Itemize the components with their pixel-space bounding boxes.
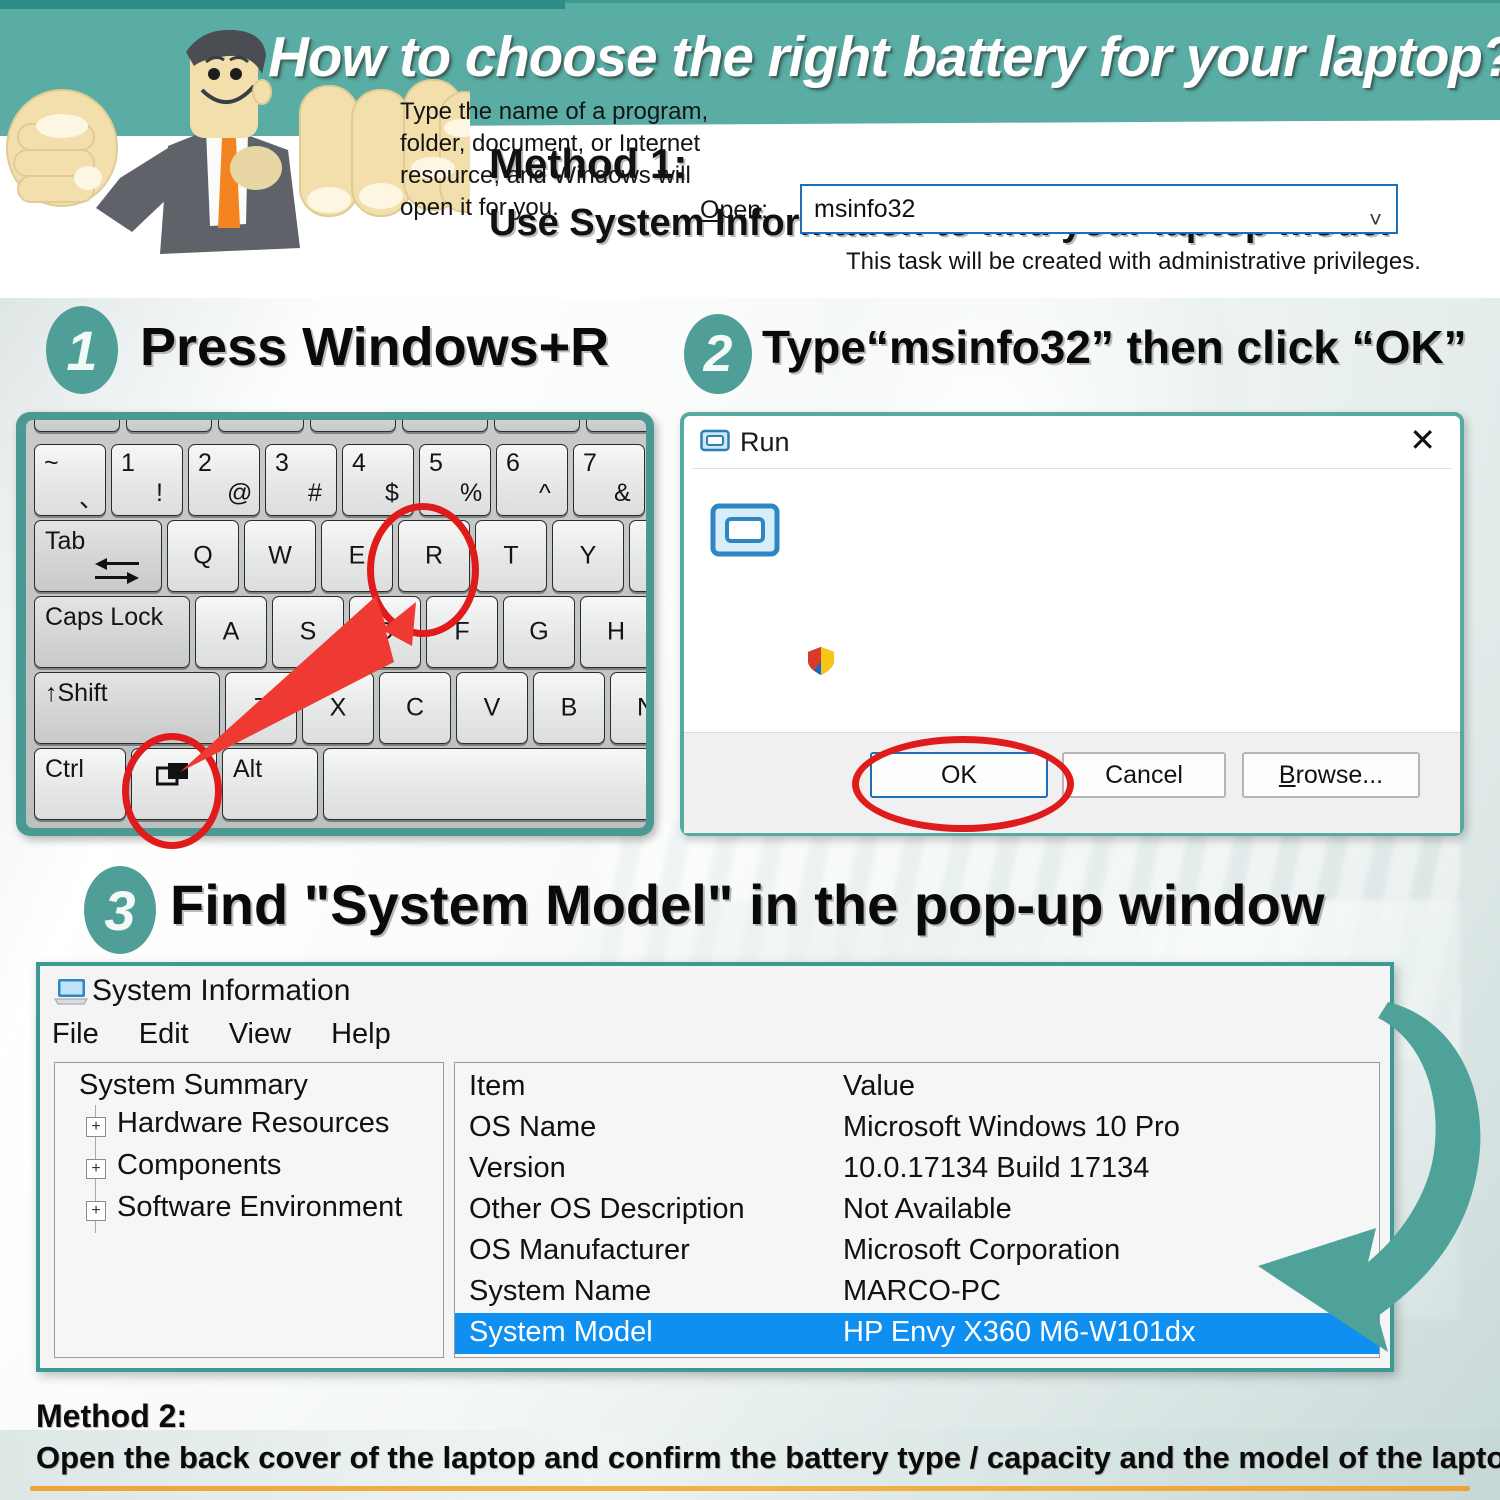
key-6-bottom: ^ [539,479,551,508]
key-2[interactable]: 2 @ [188,444,260,516]
key-7-bottom: & [614,479,631,508]
key-n-label: N [611,694,646,723]
tree-item-software-environment[interactable]: Software Environment [117,1191,402,1224]
key-2-bottom: @ [227,479,252,508]
method2-label: Method 2: [36,1398,187,1435]
run-icon [700,428,730,454]
key-ctrl-label: Ctrl [45,755,84,784]
run-dialog-titlebar: Run ✕ [684,416,1460,466]
key-7[interactable]: 7 & [573,444,645,516]
system-information-menubar: File Edit View Help [52,1018,391,1051]
grid-header-row: Item Value [455,1067,1379,1108]
key-3[interactable]: 3 # [265,444,337,516]
key-w[interactable]: W [244,520,316,592]
browse-button-rest: rowse... [1296,761,1384,790]
key-4[interactable]: 4 $ [342,444,414,516]
step-2-heading: Type“msinfo32” then click “OK” [762,320,1467,374]
key-caps-lock-label: Caps Lock [45,603,163,632]
key-h[interactable]: H [580,596,646,668]
row-value-other-os-description: Not Available [843,1193,1012,1226]
header-top-stripe [0,0,565,9]
key-u[interactable]: U [629,520,646,592]
key-4-top: 4 [352,449,366,478]
system-information-title: System Information [92,974,350,1008]
key-q-label: Q [168,542,238,571]
key-g[interactable]: G [503,596,575,668]
menu-help[interactable]: Help [331,1018,391,1051]
row-item-system-name: System Name [469,1275,651,1308]
key-1[interactable]: 1 ! [111,444,183,516]
key-g-label: G [504,618,574,647]
row-value-os-name: Microsoft Windows 10 Pro [843,1111,1180,1144]
system-information-icon [54,978,88,1006]
method2-description: Open the back cover of the laptop and co… [36,1440,1500,1476]
tree-item-components[interactable]: Components [117,1149,281,1182]
key-shift-label: ↑Shift [45,679,108,708]
uac-shield-icon [806,646,836,676]
key-u-label: U [630,542,646,571]
key-fn-partial-6[interactable] [494,420,580,432]
cancel-button[interactable]: Cancel [1062,752,1226,798]
header-top-stripe-thin [565,0,1500,3]
key-1-top: 1 [121,449,135,478]
run-large-icon [710,500,780,562]
step-1-badge: 1 [46,306,118,394]
key-1-bottom: ! [156,479,163,508]
tree-root-system-summary[interactable]: System Summary [79,1069,308,1102]
step-2-badge: 2 [684,314,752,394]
key-tab-label: Tab [45,527,85,556]
open-label: Open: [700,196,768,225]
open-label-rest: pen: [719,196,768,224]
row-item-other-os-description: Other OS Description [469,1193,745,1226]
row-item-os-name: OS Name [469,1111,596,1144]
key-ctrl[interactable]: Ctrl [34,748,126,820]
tab-arrows-icon [91,555,143,585]
ok-button-highlight-circle [852,736,1074,832]
key-y-label: Y [553,542,623,571]
step-3-badge: 3 [84,866,156,954]
chevron-down-icon[interactable]: ˅ [1369,197,1382,243]
key-tilde-bottom: 、 [79,479,104,515]
table-row[interactable]: OS Name Microsoft Windows 10 Pro [455,1108,1379,1149]
step-1-heading: Press Windows+R [140,316,609,378]
key-h-label: H [581,618,646,647]
key-fn-partial-2[interactable] [126,420,212,432]
open-input-value: msinfo32 [814,195,915,223]
key-4-bottom: $ [385,479,399,508]
run-dialog-divider [692,468,1452,469]
tree-expander-hardware-resources[interactable]: + [86,1117,106,1137]
open-input[interactable]: msinfo32 ˅ [800,184,1398,234]
windows-to-r-arrow-icon [180,590,440,780]
key-w-label: W [245,542,315,571]
row-value-os-manufacturer: Microsoft Corporation [843,1234,1120,1267]
key-fn-partial-5[interactable] [402,420,488,432]
key-6[interactable]: 6 ^ [496,444,568,516]
key-tilde[interactable]: ~ 、 [34,444,106,516]
table-row[interactable]: OS Manufacturer Microsoft Corporation [455,1231,1379,1272]
key-tilde-top: ~ [44,449,59,478]
key-q[interactable]: Q [167,520,239,592]
infographic-root: How to choose the right battery for your… [0,0,1500,1500]
menu-file[interactable]: File [52,1018,99,1051]
row-item-os-manufacturer: OS Manufacturer [469,1234,690,1267]
key-b-label: B [534,694,604,723]
details-grid: Item Value OS Name Microsoft Windows 10 … [454,1062,1380,1358]
system-summary-tree-pane: System Summary + Hardware Resources + Co… [54,1062,444,1358]
row-item-version: Version [469,1152,566,1185]
table-row[interactable]: Other OS Description Not Available [455,1190,1379,1231]
method2-divider [30,1486,1470,1491]
key-6-top: 6 [506,449,520,478]
system-information-window: System Information File Edit View Help S… [36,962,1394,1372]
menu-edit[interactable]: Edit [139,1018,189,1051]
table-row[interactable]: Version 10.0.17134 Build 17134 [455,1149,1379,1190]
key-b[interactable]: B [533,672,605,744]
key-t-label: T [476,542,546,571]
row-value-version: 10.0.17134 Build 17134 [843,1152,1149,1185]
key-t[interactable]: T [475,520,547,592]
key-tab[interactable]: Tab [34,520,162,592]
key-3-bottom: # [308,479,322,508]
column-header-item: Item [469,1070,525,1103]
table-row-selected[interactable]: System Model HP Envy X360 M6-W101dx [455,1313,1379,1354]
key-7-top: 7 [583,449,597,478]
key-y[interactable]: Y [552,520,624,592]
row-value-system-model: HP Envy X360 M6-W101dx [843,1316,1195,1349]
tree-expander-components[interactable]: + [86,1159,106,1179]
close-icon[interactable]: ✕ [1409,424,1436,456]
tree-expander-software-environment[interactable]: + [86,1201,106,1221]
key-fn-partial-4[interactable] [310,420,396,432]
column-header-value: Value [843,1070,915,1103]
key-v-label: V [457,694,527,723]
key-fn-partial-3[interactable] [218,420,304,432]
key-n[interactable]: N [610,672,646,744]
key-caps-lock[interactable]: Caps Lock [34,596,190,668]
key-fn-partial-7[interactable] [586,420,646,432]
run-dialog-description: Type the name of a program, folder, docu… [400,96,750,225]
menu-view[interactable]: View [229,1018,291,1051]
key-fn-partial-1[interactable] [34,420,120,432]
key-5-bottom: % [460,479,482,508]
step-3-heading: Find "System Model" in the pop-up window [170,872,1324,937]
key-5-top: 5 [429,449,443,478]
row-value-system-name: MARCO-PC [843,1275,1001,1308]
admin-privileges-note: This task will be created with administr… [846,248,1421,276]
tree-item-hardware-resources[interactable]: Hardware Resources [117,1107,389,1140]
method2-section: Method 2: Open the back cover of the lap… [0,1390,1500,1500]
key-2-top: 2 [198,449,212,478]
table-row[interactable]: System Name MARCO-PC [455,1272,1379,1313]
key-v[interactable]: V [456,672,528,744]
run-dialog-title: Run [740,427,790,458]
key-3-top: 3 [275,449,289,478]
browse-button[interactable]: Browse... [1242,752,1420,798]
row-item-system-model: System Model [469,1316,653,1349]
